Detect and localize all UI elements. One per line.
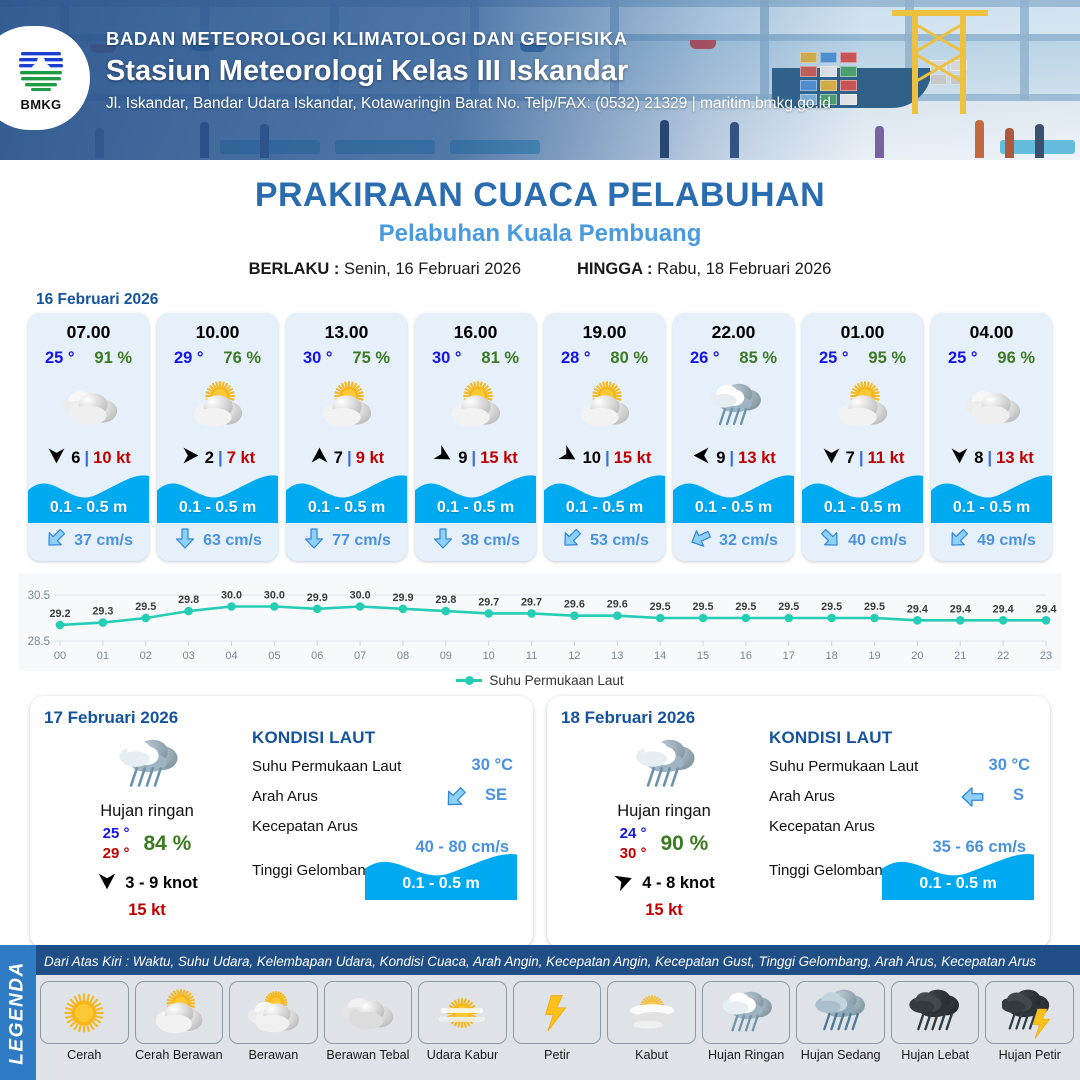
panel-wave-value: 0.1 - 0.5 m [365,875,517,893]
svg-text:29.5: 29.5 [135,601,156,613]
card-temperature: 25 ° [45,349,75,368]
svg-text:09: 09 [440,650,452,662]
legend-item: Udara Kabur [418,981,507,1062]
hourly-date-label: 16 Februari 2026 [36,291,1080,309]
card-wind-speed: 10 [583,449,601,468]
card-humidity: 95 % [868,349,906,368]
panel-temp-max: 29 ° [103,845,130,862]
current-direction-value: S [1013,786,1024,805]
legend-tab-label: LEGENDA [7,961,29,1064]
legend-item: Petir [513,981,602,1062]
daily-forecast-panels: 17 Februari 2026 Hujan ringan 25 ° 29 ° … [0,688,1080,948]
wave-graphic: 0.1 - 0.5 m [802,467,923,523]
panel-temp-min: 25 ° [103,825,130,842]
panel-gust: 15 kt [42,901,252,920]
wind-separator: | [471,448,476,468]
light-rain-icon [699,375,769,437]
card-time: 04.00 [970,322,1014,343]
card-wind-speed: 7 [334,449,343,468]
svg-text:29.9: 29.9 [392,592,413,604]
card-time: 16.00 [454,322,498,343]
sea-condition-title: KONDISI LAUT [252,728,521,748]
legend-tab: LEGENDA [0,945,36,1080]
card-wind-gust: 11 kt [868,449,905,468]
wind-direction-arrow-icon [96,870,118,897]
legend-label: Suhu Permukaan Laut [489,673,623,688]
legend-item: Hujan Petir [985,981,1074,1062]
hourly-card: 07.00 25 ° 91 % 6 | 10 kt 0. [28,313,149,561]
card-current-speed: 37 cm/s [74,532,133,550]
card-current-speed: 77 cm/s [332,532,391,550]
svg-text:17: 17 [783,650,795,662]
panel-temp-min: 24 ° [620,825,647,842]
legend-item-label: Petir [544,1048,570,1062]
legend-item: Hujan Sedang [796,981,885,1062]
card-temperature: 30 ° [432,349,462,368]
wave-graphic: 0.1 - 0.5 m [415,467,536,523]
hourly-card: 01.00 25 ° 95 % 7 | 11 kt 0.1 - 0.5 m [802,313,923,561]
card-temperature: 25 ° [948,349,978,368]
wave-graphic: 0.1 - 0.5 m [157,467,278,523]
legend-items: Cerah Cerah Berawan Berawan [40,981,1074,1062]
card-humidity: 76 % [223,349,261,368]
panel-wave-value: 0.1 - 0.5 m [882,875,1034,893]
card-wind-speed: 2 [205,449,214,468]
svg-text:29.5: 29.5 [693,601,714,613]
hourly-card: 13.00 30 ° 75 % 7 | 9 kt 0.1 - 0.5 m [286,313,407,561]
panel-date: 17 Februari 2026 [44,708,519,728]
legend-item-label: Cerah [67,1048,101,1062]
card-temperature: 25 ° [819,349,849,368]
svg-text:29.5: 29.5 [735,601,756,613]
sst-value: 30 °C [472,756,513,775]
haze-icon [418,981,507,1044]
moderate-rain-icon [796,981,885,1044]
card-temperature: 30 ° [303,349,333,368]
svg-text:03: 03 [182,650,194,662]
sst-value: 30 °C [989,756,1030,775]
wind-separator: | [859,448,864,468]
daily-forecast-panel: 18 Februari 2026 Hujan ringan 24 ° 30 ° … [547,696,1050,948]
legend-item: Hujan Lebat [891,981,980,1062]
card-wave-height: 0.1 - 0.5 m [157,499,278,517]
card-humidity: 80 % [610,349,648,368]
svg-text:29.4: 29.4 [950,603,971,615]
legend-item: Cerah [40,981,129,1062]
current-direction-label: Arah Arus [769,788,835,805]
wave-height-label: Tinggi Gelombang [252,862,374,879]
card-time: 13.00 [325,322,369,343]
wind-separator: | [729,448,734,468]
legend-note: Dari Atas Kiri : Waktu, Suhu Udara, Kele… [44,954,1074,969]
svg-text:14: 14 [654,650,666,662]
card-time: 19.00 [583,322,627,343]
daily-forecast-panel: 17 Februari 2026 Hujan ringan 25 ° 29 ° … [30,696,533,948]
title-section: PRAKIRAAN CUACA PELABUHAN Pelabuhan Kual… [0,160,1080,279]
light-rain-icon [42,732,252,798]
legend-item-label: Hujan Ringan [708,1048,784,1062]
wind-separator: | [605,448,610,468]
page-header: BMKG BADAN METEOROLOGI KLIMATOLOGI DAN G… [0,0,1080,160]
svg-text:15: 15 [697,650,709,662]
svg-text:29.5: 29.5 [821,601,842,613]
panel-wind-range: 3 - 9 knot [125,874,197,893]
current-direction-value: SE [485,786,507,805]
wave-graphic: 0.1 - 0.5 m [286,467,407,523]
legend-item-label: Hujan Sedang [801,1048,881,1062]
card-humidity: 85 % [739,349,777,368]
svg-text:11: 11 [526,650,537,662]
svg-text:19: 19 [868,650,880,662]
svg-text:30.5: 30.5 [28,590,50,602]
svg-text:29.5: 29.5 [864,601,885,613]
current-speed-label: Kecepatan Arus [769,818,875,835]
panel-humidity: 84 % [143,832,191,856]
svg-text:04: 04 [225,650,237,662]
fog-icon [607,981,696,1044]
wave-graphic: 0.1 - 0.5 m [544,467,665,523]
svg-text:29.5: 29.5 [650,601,671,613]
card-humidity: 91 % [94,349,132,368]
current-speed-label: Kecepatan Arus [252,818,358,835]
wind-separator: | [987,448,992,468]
sun-cloud-icon [135,981,224,1044]
svg-text:29.6: 29.6 [607,599,628,611]
cloudy-icon [957,375,1027,437]
panel-wave-graphic: 0.1 - 0.5 m [882,846,1034,900]
station-name: Stasiun Meteorologi Kelas III Iskandar [106,55,831,88]
legend-item-label: Udara Kabur [427,1048,498,1062]
wave-graphic: 0.1 - 0.5 m [673,467,794,523]
light-rain-icon [702,981,791,1044]
legend-item: Cerah Berawan [135,981,224,1062]
validity-period: BERLAKU : Senin, 16 Februari 2026 HINGGA… [0,260,1080,279]
current-direction-arrow-icon [443,784,469,815]
wave-height-label: Tinggi Gelombang [769,862,891,879]
current-direction-arrow-icon [44,526,68,555]
card-current-speed: 40 cm/s [848,532,907,550]
legend-item-label: Berawan Tebal [326,1048,409,1062]
svg-text:01: 01 [97,650,109,662]
legend-item: Hujan Ringan [702,981,791,1062]
card-wave-height: 0.1 - 0.5 m [931,499,1052,517]
agency-name: BADAN METEOROLOGI KLIMATOLOGI DAN GEOFIS… [106,28,831,50]
legend-item: Berawan Tebal [324,981,413,1062]
cloudy-icon [54,375,124,437]
valid-to: HINGGA : Rabu, 18 Februari 2026 [577,260,831,279]
heavy-rain-icon [891,981,980,1044]
current-direction-arrow-icon [689,526,713,555]
panel-gust: 15 kt [559,901,769,920]
sst-label: Suhu Permukaan Laut [252,758,401,775]
bmkg-logo-text: BMKG [21,97,62,112]
card-wave-height: 0.1 - 0.5 m [544,499,665,517]
svg-text:29.3: 29.3 [92,606,113,618]
card-temperature: 28 ° [561,349,591,368]
svg-text:29.5: 29.5 [778,601,799,613]
current-direction-arrow-icon [947,526,971,555]
legend-marker-icon [456,679,482,682]
svg-text:08: 08 [397,650,409,662]
sst-label: Suhu Permukaan Laut [769,758,918,775]
panel-date: 18 Februari 2026 [561,708,1036,728]
legend-section: LEGENDA Dari Atas Kiri : Waktu, Suhu Uda… [0,945,1080,1080]
card-time: 01.00 [841,322,885,343]
card-wind-gust: 7 kt [227,449,255,468]
partly-cloudy-icon [312,375,382,437]
card-wind-gust: 15 kt [480,449,518,468]
card-wind-gust: 10 kt [93,449,131,468]
card-humidity: 81 % [481,349,519,368]
svg-text:13: 13 [611,650,623,662]
sea-condition-title: KONDISI LAUT [769,728,1038,748]
panel-wind-range: 4 - 8 knot [642,874,714,893]
card-wind-gust: 9 kt [356,449,384,468]
card-wave-height: 0.1 - 0.5 m [28,499,149,517]
svg-text:29.8: 29.8 [435,594,456,606]
card-wind-speed: 9 [458,449,467,468]
svg-text:18: 18 [826,650,838,662]
card-wind-gust: 13 kt [738,449,776,468]
svg-text:00: 00 [54,650,66,662]
svg-text:29.7: 29.7 [521,596,542,608]
card-temperature: 29 ° [174,349,204,368]
valid-to-value: Rabu, 18 Februari 2026 [657,260,831,278]
card-humidity: 96 % [997,349,1035,368]
svg-text:29.9: 29.9 [307,592,328,604]
svg-text:20: 20 [911,650,923,662]
legend-item-label: Berawan [249,1048,299,1062]
wind-separator: | [218,448,223,468]
sst-chart-legend: Suhu Permukaan Laut [0,673,1080,688]
svg-text:29.4: 29.4 [907,603,928,615]
current-direction-arrow-icon [818,526,842,555]
panel-wave-graphic: 0.1 - 0.5 m [365,846,517,900]
svg-text:30.0: 30.0 [264,590,285,602]
legend-item-label: Kabut [635,1048,668,1062]
port-name: Pelabuhan Kuala Pembuang [0,220,1080,248]
svg-text:12: 12 [568,650,580,662]
card-wind-speed: 7 [846,449,855,468]
svg-text:29.4: 29.4 [1035,603,1056,615]
hourly-card: 19.00 28 ° 80 % 10 | 15 kt 0.1 - 0.5 m [544,313,665,561]
hourly-card: 04.00 25 ° 96 % 8 | 13 kt 0. [931,313,1052,561]
svg-text:30.0: 30.0 [350,590,371,602]
partly-cloudy-icon [828,375,898,437]
svg-text:05: 05 [268,650,280,662]
hourly-card: 16.00 30 ° 81 % 9 | 15 kt 0.1 - 0.5 m [415,313,536,561]
valid-from-value: Senin, 16 Februari 2026 [344,260,521,278]
light-rain-icon [559,732,769,798]
legend-item-label: Hujan Lebat [901,1048,969,1062]
cloud-thick-icon [324,981,413,1044]
svg-text:06: 06 [311,650,323,662]
card-time: 07.00 [67,322,111,343]
svg-text:29.4: 29.4 [993,603,1014,615]
card-wind-gust: 15 kt [614,449,652,468]
card-wind-speed: 9 [716,449,725,468]
hourly-forecast-cards: 07.00 25 ° 91 % 6 | 10 kt 0. [0,313,1080,561]
page-title: PRAKIRAAN CUACA PELABUHAN [0,176,1080,215]
card-current-speed: 49 cm/s [977,532,1036,550]
valid-from-label: BERLAKU : [249,260,340,278]
card-temperature: 26 ° [690,349,720,368]
svg-text:10: 10 [483,650,495,662]
card-wind-speed: 6 [71,449,80,468]
svg-text:23: 23 [1040,650,1052,662]
lightning-icon [513,981,602,1044]
card-time: 10.00 [196,322,240,343]
card-humidity: 75 % [352,349,390,368]
svg-text:30.0: 30.0 [221,590,242,602]
panel-humidity: 90 % [660,832,708,856]
hourly-card: 22.00 26 ° 85 % 9 | 13 kt 0. [673,313,794,561]
card-wave-height: 0.1 - 0.5 m [673,499,794,517]
wind-separator: | [84,448,89,468]
wind-direction-arrow-icon [613,870,635,897]
wave-graphic: 0.1 - 0.5 m [931,467,1052,523]
cloud-sun-small-icon [229,981,318,1044]
svg-text:29.2: 29.2 [49,608,70,620]
card-time: 22.00 [712,322,756,343]
sst-chart: 30.528.500010203040506070809101112131415… [18,573,1062,671]
partly-cloudy-icon [183,375,253,437]
current-direction-arrow-icon [431,526,455,555]
valid-to-label: HINGGA : [577,260,652,278]
card-current-speed: 53 cm/s [590,532,649,550]
panel-condition: Hujan ringan [559,802,769,821]
card-current-speed: 38 cm/s [461,532,520,550]
svg-text:29.6: 29.6 [564,599,585,611]
panel-temp-max: 30 ° [620,845,647,862]
wind-separator: | [347,448,352,468]
station-address: Jl. Iskandar, Bandar Udara Iskandar, Kot… [106,95,831,113]
card-wind-gust: 13 kt [996,449,1034,468]
panel-condition: Hujan ringan [42,802,252,821]
svg-text:28.5: 28.5 [28,636,50,648]
wave-graphic: 0.1 - 0.5 m [28,467,149,523]
card-wave-height: 0.1 - 0.5 m [286,499,407,517]
svg-text:22: 22 [997,650,1009,662]
svg-text:16: 16 [740,650,752,662]
legend-item: Kabut [607,981,696,1062]
current-direction-arrow-icon [960,784,986,815]
card-wave-height: 0.1 - 0.5 m [802,499,923,517]
card-wind-speed: 8 [974,449,983,468]
thunderstorm-rain-icon [985,981,1074,1044]
hourly-card: 10.00 29 ° 76 % 2 | 7 kt 0.1 - 0.5 m [157,313,278,561]
svg-text:29.8: 29.8 [178,594,199,606]
sun-icon [40,981,129,1044]
valid-from: BERLAKU : Senin, 16 Februari 2026 [249,260,521,279]
svg-text:02: 02 [140,650,152,662]
current-direction-arrow-icon [560,526,584,555]
svg-text:21: 21 [954,650,966,662]
legend-item-label: Hujan Petir [999,1048,1061,1062]
current-direction-label: Arah Arus [252,788,318,805]
current-direction-arrow-icon [302,526,326,555]
card-current-speed: 32 cm/s [719,532,778,550]
svg-text:29.7: 29.7 [478,596,499,608]
bmkg-logo-icon [15,44,67,96]
card-current-speed: 63 cm/s [203,532,262,550]
legend-item: Berawan [229,981,318,1062]
current-direction-arrow-icon [173,526,197,555]
partly-cloudy-icon [570,375,640,437]
svg-text:07: 07 [354,650,366,662]
card-wave-height: 0.1 - 0.5 m [415,499,536,517]
partly-cloudy-icon [441,375,511,437]
legend-item-label: Cerah Berawan [135,1048,223,1062]
